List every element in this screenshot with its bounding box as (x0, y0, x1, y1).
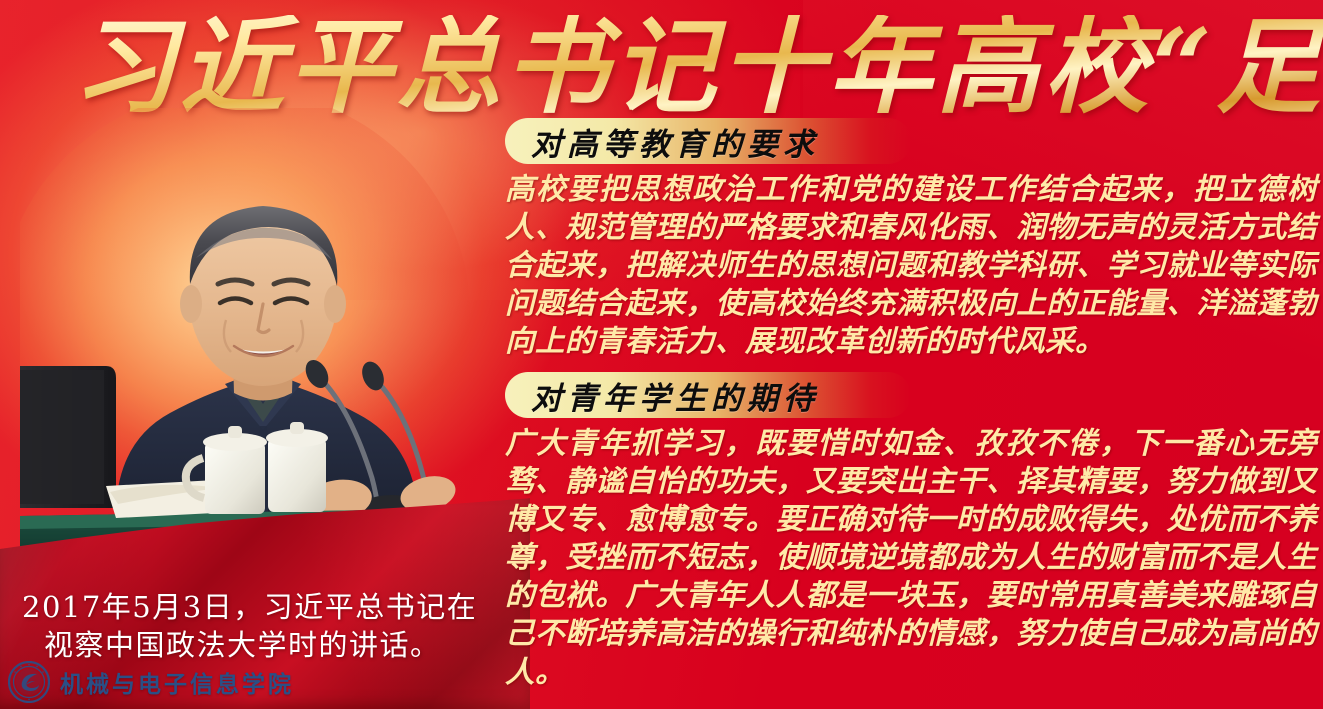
section-heading-pill-2: 对青年学生的期待 (505, 372, 911, 418)
section-higher-education: 对高等教育的要求 高校要把思想政治工作和党的建设工作结合起来，把立德树人、规范管… (505, 118, 1317, 360)
section-body-2: 广大青年抓学习，既要惜时如金、孜孜不倦，下一番心无旁骛、静谧自怡的功夫，又要突出… (505, 424, 1317, 690)
caption-line-2: 视察中国政法大学时的讲话。 (22, 626, 492, 664)
poster-title-text: 习近平总书记十年高校“足迹” (72, 15, 1323, 119)
content-column: 对高等教育的要求 高校要把思想政治工作和党的建设工作结合起来，把立德树人、规范管… (505, 118, 1317, 703)
section-youth-expectations: 对青年学生的期待 广大青年抓学习，既要惜时如金、孜孜不倦，下一番心无旁骛、静谧自… (505, 372, 1317, 690)
section-heading-1-text: 对高等教育的要求 (531, 119, 819, 164)
section-body-1: 高校要把思想政治工作和党的建设工作结合起来，把立德树人、规范管理的严格要求和春风… (505, 170, 1317, 360)
footer-branding: 机械与电子信息学院 (8, 661, 294, 703)
section-heading-pill-1: 对高等教育的要求 (505, 118, 911, 164)
school-seal-icon (8, 661, 50, 703)
school-name-label: 机械与电子信息学院 (60, 665, 294, 699)
section-heading-2-text: 对青年学生的期待 (531, 373, 819, 418)
photo-caption: 2017年5月3日，习近平总书记在 视察中国政法大学时的讲话。 (22, 588, 492, 665)
poster-root: 习近平总书记十年高校“足迹” (0, 0, 1323, 709)
caption-line-1: 2017年5月3日，习近平总书记在 (22, 590, 477, 624)
